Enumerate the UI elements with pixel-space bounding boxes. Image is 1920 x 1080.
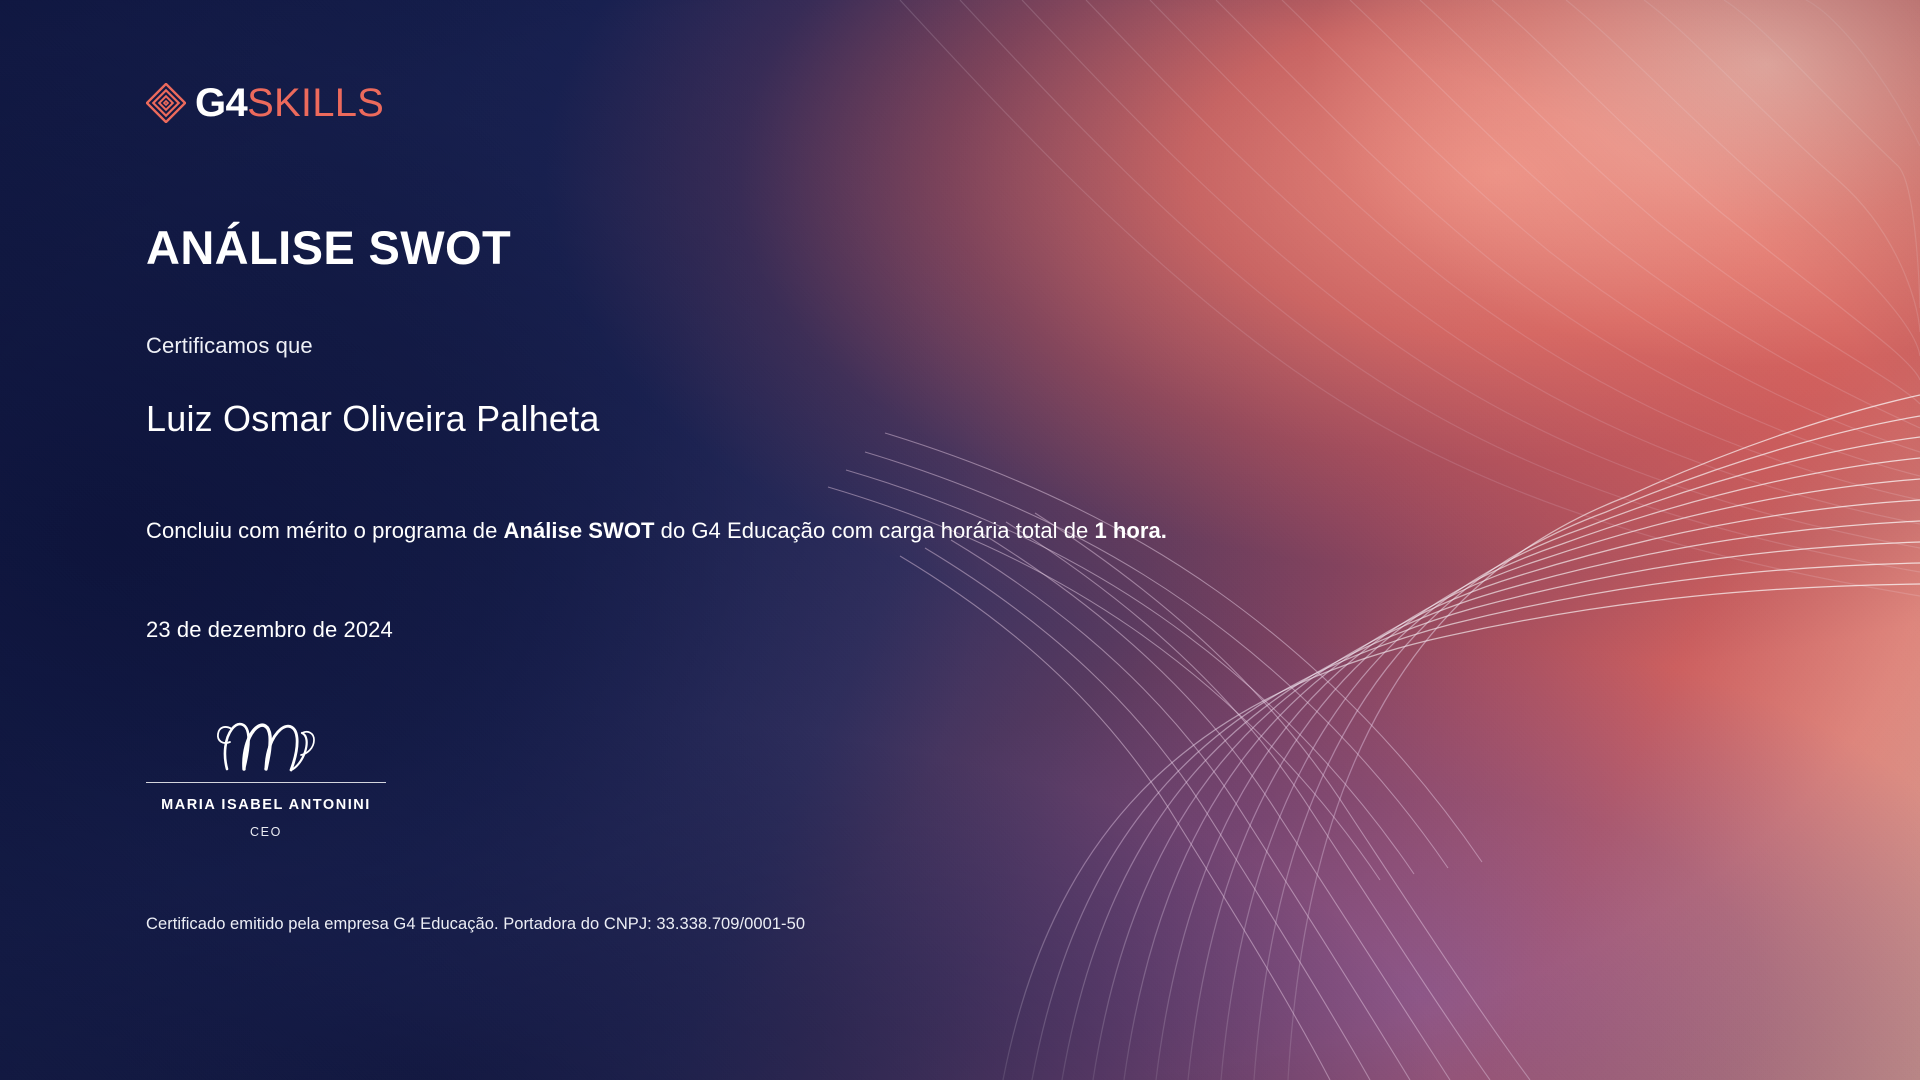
- footer-issuer-note: Certificado emitido pela empresa G4 Educ…: [146, 915, 805, 934]
- brand-wordmark-primary: G4: [195, 83, 247, 123]
- brand-wordmark: G4 SKILLS: [195, 83, 384, 123]
- signatory-name: MARIA ISABEL ANTONINI: [146, 797, 386, 813]
- statement-workload: 1 hora.: [1094, 518, 1166, 543]
- recipient-name: Luiz Osmar Oliveira Palheta: [146, 398, 600, 440]
- signature-rule: [146, 782, 386, 783]
- certificate-title: ANÁLISE SWOT: [146, 223, 511, 274]
- brand-wordmark-secondary: SKILLS: [247, 83, 384, 123]
- signature-block: MARIA ISABEL ANTONINI CEO: [146, 714, 386, 839]
- statement-course-name: Análise SWOT: [504, 518, 655, 543]
- issue-date: 23 de dezembro de 2024: [146, 617, 393, 643]
- concentric-diamond-icon: [146, 83, 186, 123]
- certificate-canvas: G4 SKILLS ANÁLISE SWOT Certificamos que …: [0, 0, 1920, 1080]
- statement-lead: Concluiu com mérito o programa de: [146, 518, 504, 543]
- certificate-preamble: Certificamos que: [146, 333, 313, 359]
- statement-middle: do G4 Educação com carga horária total d…: [655, 518, 1095, 543]
- certificate-content: G4 SKILLS ANÁLISE SWOT Certificamos que …: [0, 0, 1920, 1080]
- signature-monogram-icon: [146, 714, 386, 776]
- brand-logo: G4 SKILLS: [146, 83, 384, 123]
- completion-statement: Concluiu com mérito o programa de Anális…: [146, 518, 1167, 544]
- signatory-role: CEO: [146, 825, 386, 839]
